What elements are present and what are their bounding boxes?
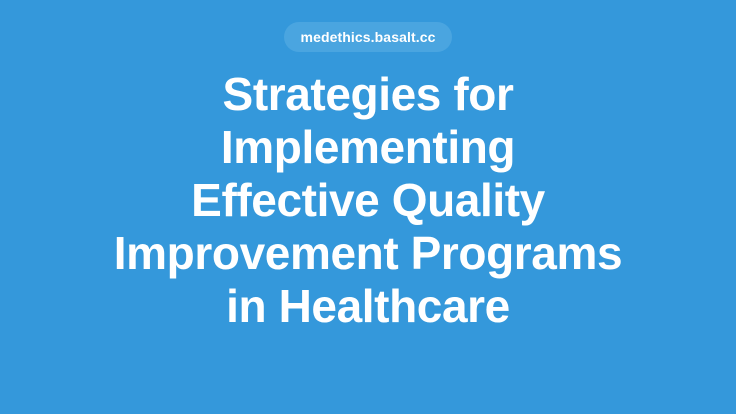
title-line-4: Improvement Programs	[38, 227, 698, 280]
page-title: Strategies for Implementing Effective Qu…	[38, 68, 698, 333]
domain-badge: medethics.basalt.cc	[284, 22, 453, 52]
title-line-3: Effective Quality	[38, 174, 698, 227]
title-line-2: Implementing	[38, 121, 698, 174]
title-line-5: in Healthcare	[38, 280, 698, 333]
poster-canvas: medethics.basalt.cc Strategies for Imple…	[0, 0, 736, 414]
title-line-1: Strategies for	[38, 68, 698, 121]
